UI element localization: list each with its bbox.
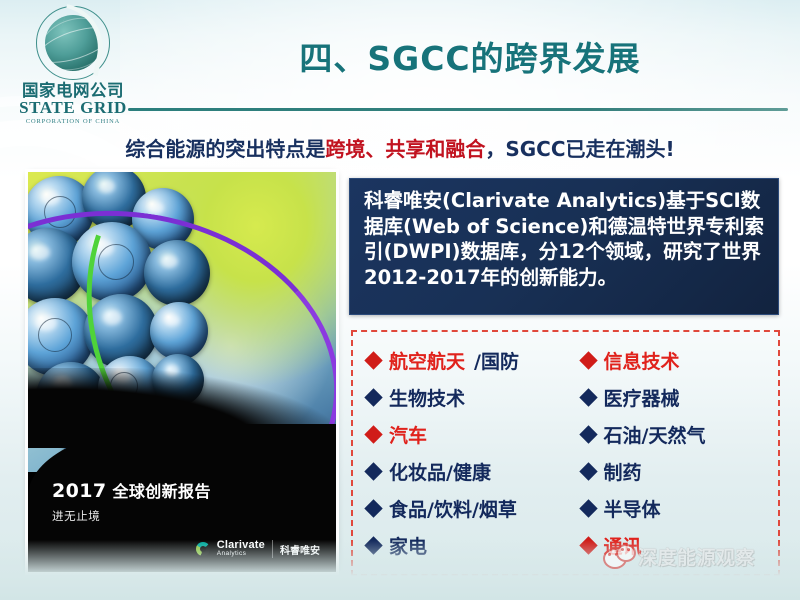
list-item-label: 制药 (604, 458, 642, 485)
slide-canvas: 国家电网公司 STATE GRID CORPORATION OF CHINA 四… (0, 0, 800, 600)
diamond-bullet-icon (579, 351, 597, 369)
list-item[interactable]: 家电 (367, 527, 564, 564)
list-item[interactable]: 信息技术 (582, 342, 779, 379)
subtitle-tail: ，SGCC已走在潮头! (485, 137, 674, 161)
list-item[interactable]: 生物技术 (367, 379, 564, 416)
cover-title: 2017 全球创新报告 (52, 478, 211, 502)
brand-divider (272, 540, 273, 558)
clarivate-logo-icon (196, 542, 210, 556)
diamond-bullet-icon (364, 388, 382, 406)
diamond-bullet-icon (579, 425, 597, 443)
logo-company-subtitle-en: CORPORATION OF CHINA (14, 118, 132, 125)
description-box: 科睿唯安(Clarivate Analytics)基于SCI数据库(Web of… (349, 178, 779, 315)
diamond-bullet-icon (579, 462, 597, 480)
list-item[interactable]: 汽车 (367, 416, 564, 453)
list-item[interactable]: 半导体 (582, 490, 779, 527)
diamond-bullet-icon (579, 536, 597, 554)
state-grid-logo: 国家电网公司 STATE GRID CORPORATION OF CHINA (14, 6, 132, 124)
list-item[interactable]: 化妆品/健康 (367, 453, 564, 490)
clarivate-name-sub: Analytics (217, 551, 265, 558)
list-item-label: 半导体 (604, 495, 661, 522)
domain-column-right: 信息技术 医疗器械 石油/天然气 制药 半导体 通讯 (564, 332, 779, 574)
diamond-bullet-icon (364, 499, 382, 517)
page-title: 四、SGCC的跨界发展 (170, 32, 770, 80)
logo-company-name-en: STATE GRID (14, 99, 132, 117)
subtitle-lead: 综合能源的突出特点是 (125, 137, 325, 161)
clarivate-name-cn: 科睿唯安 (280, 542, 320, 557)
logo-company-name-cn: 国家电网公司 (14, 82, 132, 99)
clarivate-branding: Clarivate Analytics 科睿唯安 (196, 540, 320, 558)
report-cover-image: 2017 全球创新报告 进无止境 Clarivate Analytics 科睿唯… (28, 172, 336, 572)
subtitle-highlight: 跨境、共享和融合 (325, 137, 485, 161)
list-item[interactable]: 航空航天/国防 (367, 342, 564, 379)
list-item-label: 石油/天然气 (604, 421, 706, 448)
list-item-label: 医疗器械 (604, 384, 680, 411)
list-item-label: 家电 (389, 532, 427, 559)
domain-list-box: 航空航天/国防 生物技术 汽车 化妆品/健康 食品/饮料/烟草 家电 (351, 330, 780, 576)
list-item[interactable]: 食品/饮料/烟草 (367, 490, 564, 527)
cover-tagline: 进无止境 (52, 508, 100, 524)
list-item[interactable]: 通讯 (582, 527, 779, 564)
list-item[interactable]: 石油/天然气 (582, 416, 779, 453)
list-item-label: 航空航天 (389, 347, 465, 374)
list-item-label: 信息技术 (604, 347, 680, 374)
diamond-bullet-icon (364, 351, 382, 369)
title-divider (128, 108, 788, 111)
clarivate-wordmark: Clarivate Analytics (217, 540, 265, 558)
list-item-label: 通讯 (604, 532, 642, 559)
diamond-bullet-icon (364, 425, 382, 443)
diamond-bullet-icon (579, 388, 597, 406)
list-item-label: 食品/饮料/烟草 (389, 495, 517, 522)
list-item[interactable]: 制药 (582, 453, 779, 490)
list-item-label: 汽车 (389, 421, 427, 448)
list-item-suffix: /国防 (474, 347, 519, 374)
cover-title-year: 2017 (52, 480, 106, 502)
subtitle-line: 综合能源的突出特点是跨境、共享和融合，SGCC已走在潮头! (0, 133, 800, 162)
list-item-label: 生物技术 (389, 384, 465, 411)
cover-title-text: 全球创新报告 (106, 482, 210, 501)
list-item[interactable]: 医疗器械 (582, 379, 779, 416)
diamond-bullet-icon (364, 462, 382, 480)
domain-column-left: 航空航天/国防 生物技术 汽车 化妆品/健康 食品/饮料/烟草 家电 (353, 332, 564, 574)
diamond-bullet-icon (364, 536, 382, 554)
state-grid-globe-icon (36, 6, 110, 80)
list-item-label: 化妆品/健康 (389, 458, 491, 485)
diamond-bullet-icon (579, 499, 597, 517)
